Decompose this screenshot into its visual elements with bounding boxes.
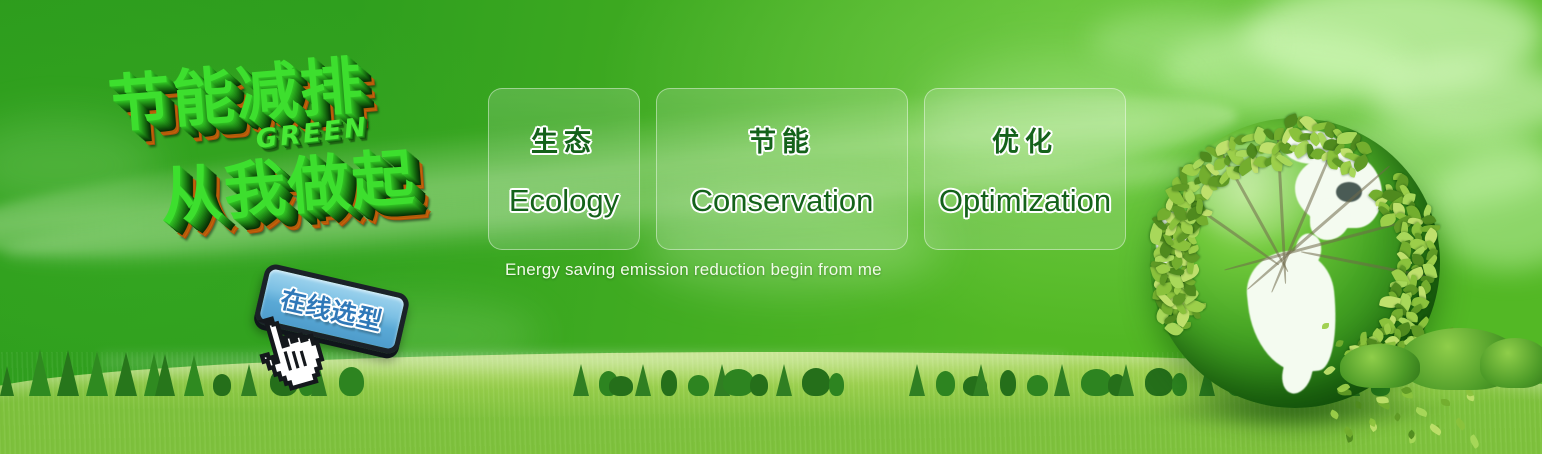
- feature-card-cn-label: 优化: [992, 120, 1058, 159]
- grass-highlight: [99, 354, 1065, 380]
- banner-tagline: Energy saving emission reduction begin f…: [505, 260, 882, 280]
- feature-card-ecology[interactable]: 生态 Ecology: [488, 88, 640, 250]
- feature-card-cn-label: 生态: [531, 120, 597, 159]
- feature-card-optimization[interactable]: 优化 Optimization: [924, 88, 1126, 250]
- cloud-icon: [1245, 0, 1542, 90]
- feature-card-conservation[interactable]: 节能 Conservation: [656, 88, 908, 250]
- bush-icon: [1340, 344, 1420, 388]
- headline-logo: 节能减排 GREEN 从我做起: [97, 25, 493, 279]
- cloud-icon: [1090, 10, 1270, 70]
- eco-banner: 节能减排 GREEN 从我做起 生态 Ecology 节能 Conservati…: [0, 0, 1542, 454]
- bush-icon: [1480, 338, 1542, 388]
- feature-card-en-label: Optimization: [939, 183, 1111, 219]
- cloud-icon: [1160, 30, 1410, 110]
- green-earth-globe-icon: [1132, 108, 1462, 438]
- logo-line-2: 从我做起: [156, 127, 418, 237]
- feature-card-en-label: Ecology: [509, 183, 619, 219]
- falling-leaf-icon: [1441, 399, 1450, 406]
- feature-card-en-label: Conservation: [691, 183, 874, 219]
- feature-card-cn-label: 节能: [749, 120, 815, 159]
- pointing-hand-cursor-icon: [246, 308, 328, 394]
- online-selection-cta: 在线选型: [258, 272, 428, 392]
- feature-card-list: 生态 Ecology 节能 Conservation 优化 Optimizati…: [488, 88, 1126, 250]
